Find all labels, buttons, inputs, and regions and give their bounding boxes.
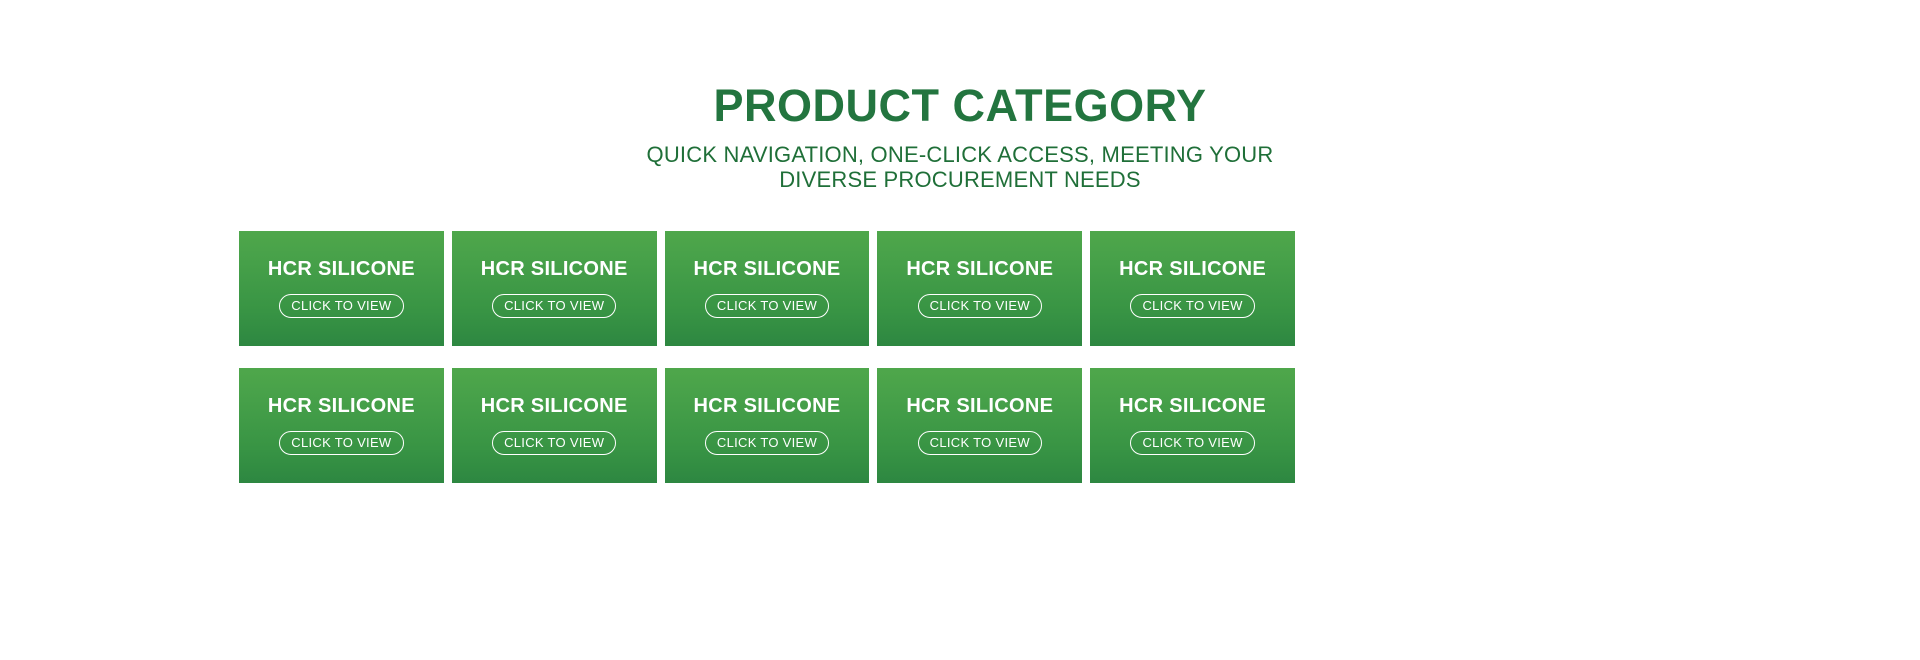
click-to-view-button[interactable]: CLICK TO VIEW bbox=[918, 294, 1042, 318]
click-to-view-button[interactable]: CLICK TO VIEW bbox=[279, 294, 403, 318]
category-card-title: HCR SILICONE bbox=[694, 396, 841, 416]
category-card-title: HCR SILICONE bbox=[906, 259, 1053, 279]
section-header: PRODUCT CATEGORY QUICK NAVIGATION, ONE-C… bbox=[0, 82, 1920, 193]
category-card[interactable]: HCR SILICONE CLICK TO VIEW bbox=[239, 368, 444, 483]
click-to-view-button[interactable]: CLICK TO VIEW bbox=[705, 294, 829, 318]
category-card-title: HCR SILICONE bbox=[268, 259, 415, 279]
category-card-title: HCR SILICONE bbox=[481, 396, 628, 416]
click-to-view-button[interactable]: CLICK TO VIEW bbox=[1130, 431, 1254, 455]
page-subtitle: QUICK NAVIGATION, ONE-CLICK ACCESS, MEET… bbox=[640, 143, 1280, 192]
click-to-view-button[interactable]: CLICK TO VIEW bbox=[1130, 294, 1254, 318]
category-card[interactable]: HCR SILICONE CLICK TO VIEW bbox=[452, 368, 657, 483]
category-card[interactable]: HCR SILICONE CLICK TO VIEW bbox=[877, 368, 1082, 483]
category-card-title: HCR SILICONE bbox=[1119, 396, 1266, 416]
category-card-title: HCR SILICONE bbox=[906, 396, 1053, 416]
click-to-view-button[interactable]: CLICK TO VIEW bbox=[918, 431, 1042, 455]
category-card[interactable]: HCR SILICONE CLICK TO VIEW bbox=[1090, 231, 1295, 346]
click-to-view-button[interactable]: CLICK TO VIEW bbox=[705, 431, 829, 455]
category-card[interactable]: HCR SILICONE CLICK TO VIEW bbox=[665, 231, 870, 346]
click-to-view-button[interactable]: CLICK TO VIEW bbox=[492, 431, 616, 455]
click-to-view-button[interactable]: CLICK TO VIEW bbox=[279, 431, 403, 455]
category-card-grid: HCR SILICONE CLICK TO VIEW HCR SILICONE … bbox=[239, 231, 1295, 483]
category-card[interactable]: HCR SILICONE CLICK TO VIEW bbox=[452, 231, 657, 346]
category-card-title: HCR SILICONE bbox=[694, 259, 841, 279]
category-card[interactable]: HCR SILICONE CLICK TO VIEW bbox=[239, 231, 444, 346]
page-title: PRODUCT CATEGORY bbox=[0, 82, 1920, 129]
category-card-title: HCR SILICONE bbox=[268, 396, 415, 416]
click-to-view-button[interactable]: CLICK TO VIEW bbox=[492, 294, 616, 318]
product-category-section: PRODUCT CATEGORY QUICK NAVIGATION, ONE-C… bbox=[0, 0, 1920, 660]
category-card[interactable]: HCR SILICONE CLICK TO VIEW bbox=[1090, 368, 1295, 483]
category-card-title: HCR SILICONE bbox=[481, 259, 628, 279]
category-card-title: HCR SILICONE bbox=[1119, 259, 1266, 279]
category-card[interactable]: HCR SILICONE CLICK TO VIEW bbox=[877, 231, 1082, 346]
category-card[interactable]: HCR SILICONE CLICK TO VIEW bbox=[665, 368, 870, 483]
